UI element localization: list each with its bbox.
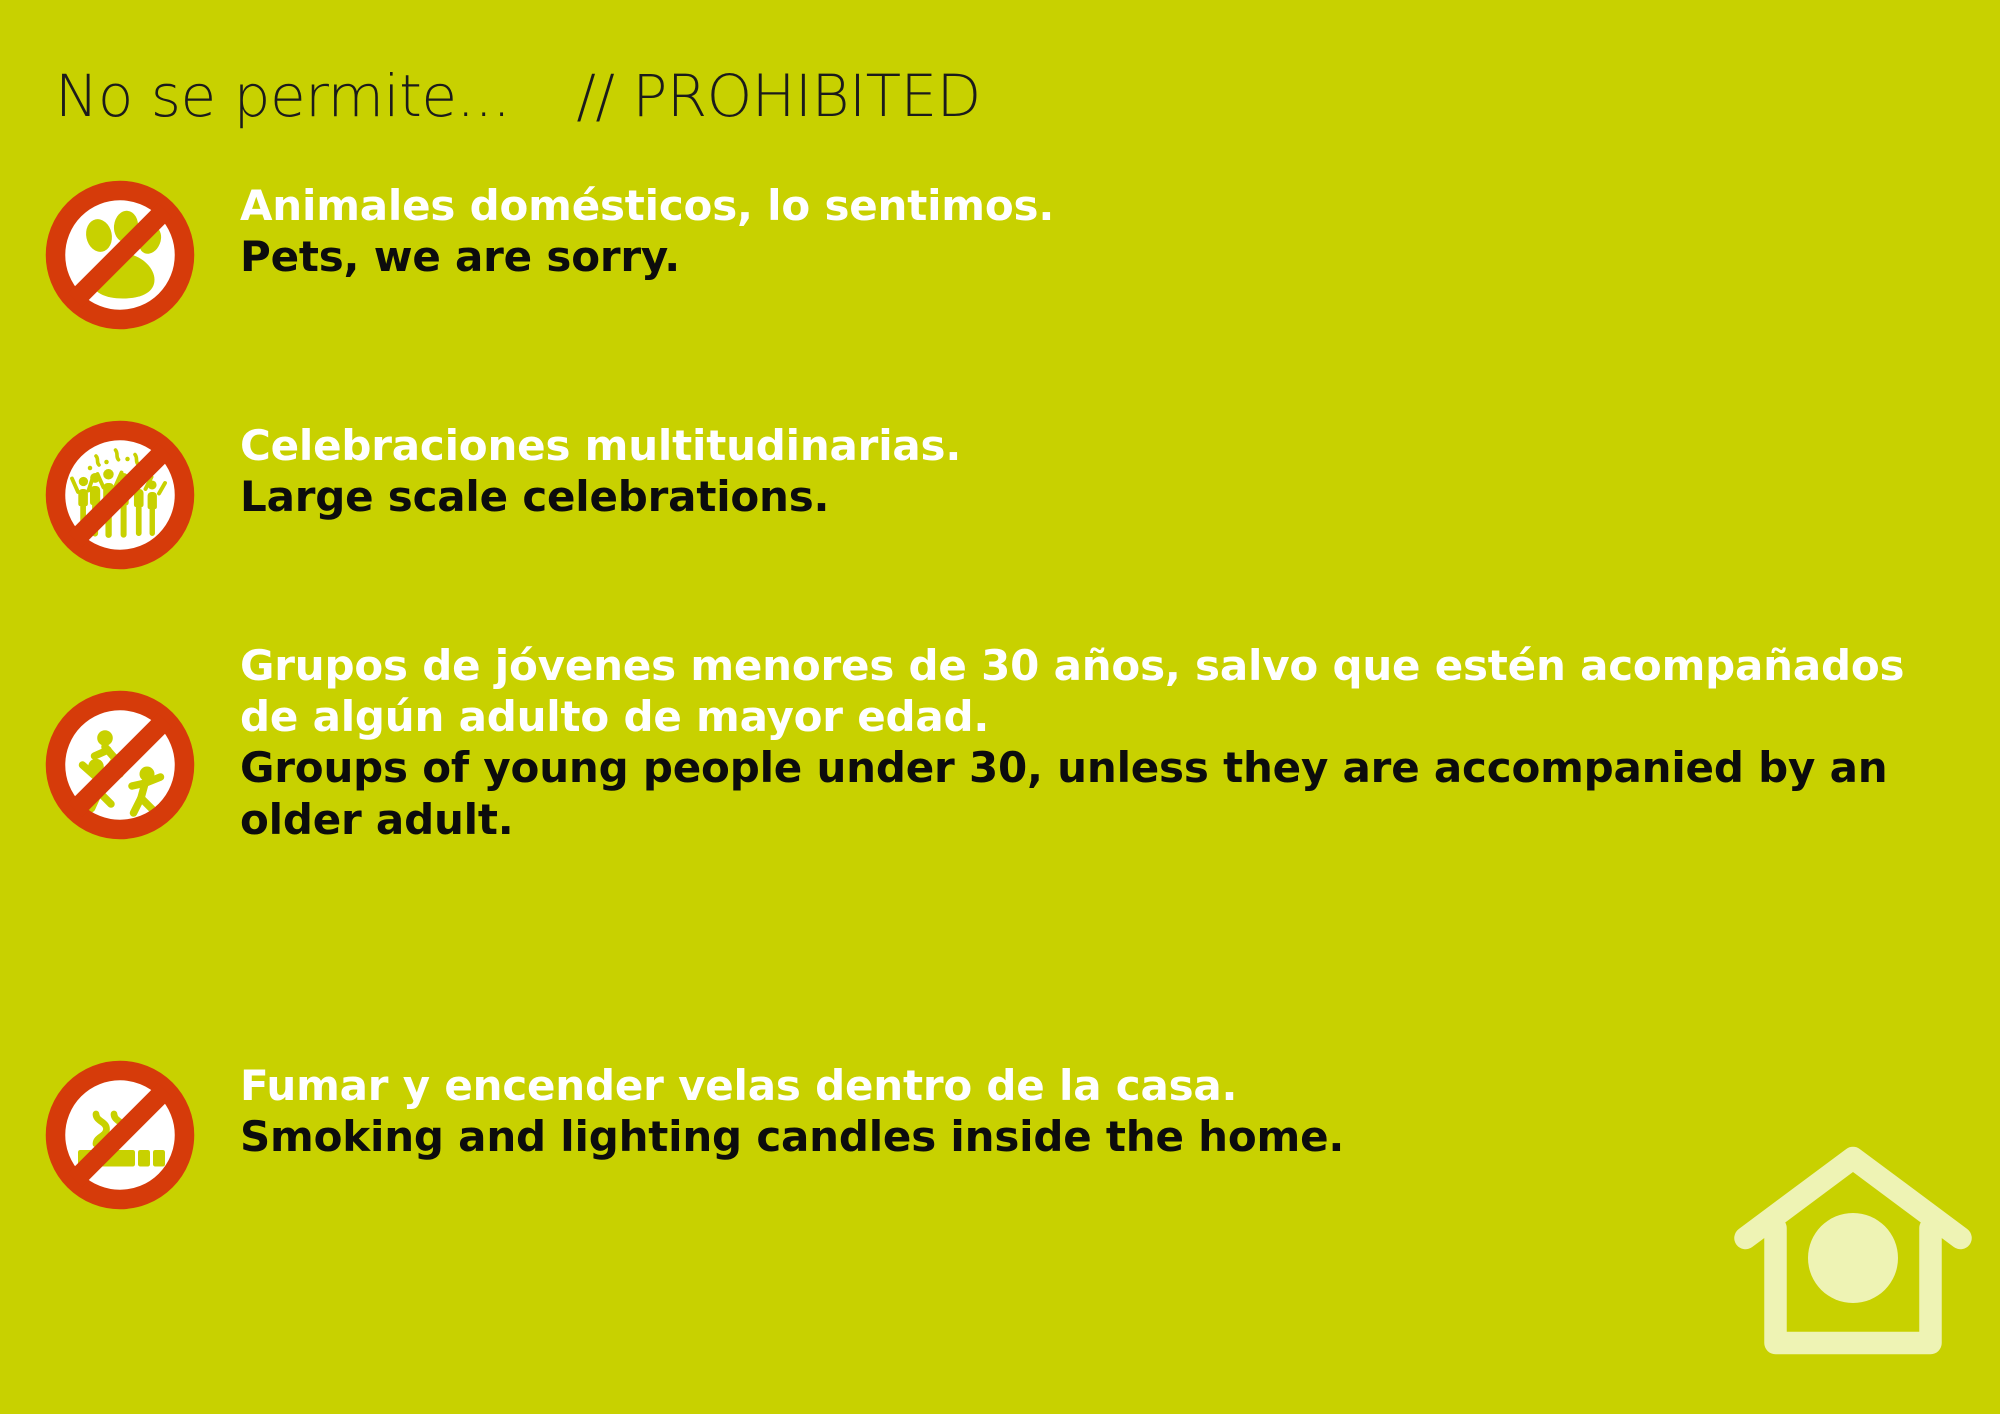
prohibited-rules-slide: No se permite... // PROHIBITED xyxy=(0,0,2000,1414)
page-title-english: // PROHIBITED xyxy=(576,62,980,130)
rule-icon-cell xyxy=(0,1060,240,1210)
rule-text-cell: Celebraciones multitudinarias. Large sca… xyxy=(240,420,2000,522)
rule-text-english: Large scale celebrations. xyxy=(240,471,1980,522)
house-logo xyxy=(1728,1128,1978,1378)
no-young-groups-party-icon xyxy=(45,690,195,840)
no-pets-paw-icon xyxy=(45,180,195,330)
rule-text-spanish: Celebraciones multitudinarias. xyxy=(240,420,1980,471)
rule-icon-cell xyxy=(0,640,240,840)
rule-row: Fumar y encender velas dentro de la casa… xyxy=(0,1060,2000,1210)
no-crowd-celebration-icon xyxy=(45,420,195,570)
rule-text-spanish: Animales domésticos, lo sentimos. xyxy=(240,180,1980,231)
rule-text-english: Pets, we are sorry. xyxy=(240,231,1980,282)
rule-text-english-line2: older adult. xyxy=(240,794,1980,845)
rule-text-english-line1: Groups of young people under 30, unless … xyxy=(240,742,1980,793)
rule-text-spanish-line1: Grupos de jóvenes menores de 30 años, sa… xyxy=(240,640,1980,691)
rule-row: Grupos de jóvenes menores de 30 años, sa… xyxy=(0,640,2000,845)
rule-icon-cell xyxy=(0,180,240,330)
rule-text-english: Smoking and lighting candles inside the … xyxy=(240,1111,1980,1162)
rule-row: Animales domésticos, lo sentimos. Pets, … xyxy=(0,180,2000,330)
rule-text-cell: Grupos de jóvenes menores de 30 años, sa… xyxy=(240,640,2000,845)
page-title: No se permite... // PROHIBITED xyxy=(55,62,981,130)
page-title-spanish: No se permite... xyxy=(55,62,510,130)
rule-text-spanish: Fumar y encender velas dentro de la casa… xyxy=(240,1060,1980,1111)
no-smoking-candles-icon xyxy=(45,1060,195,1210)
rule-text-spanish-line2: de algún adulto de mayor edad. xyxy=(240,691,1980,742)
rule-row: Celebraciones multitudinarias. Large sca… xyxy=(0,420,2000,570)
rule-text-cell: Animales domésticos, lo sentimos. Pets, … xyxy=(240,180,2000,282)
rule-icon-cell xyxy=(0,420,240,570)
